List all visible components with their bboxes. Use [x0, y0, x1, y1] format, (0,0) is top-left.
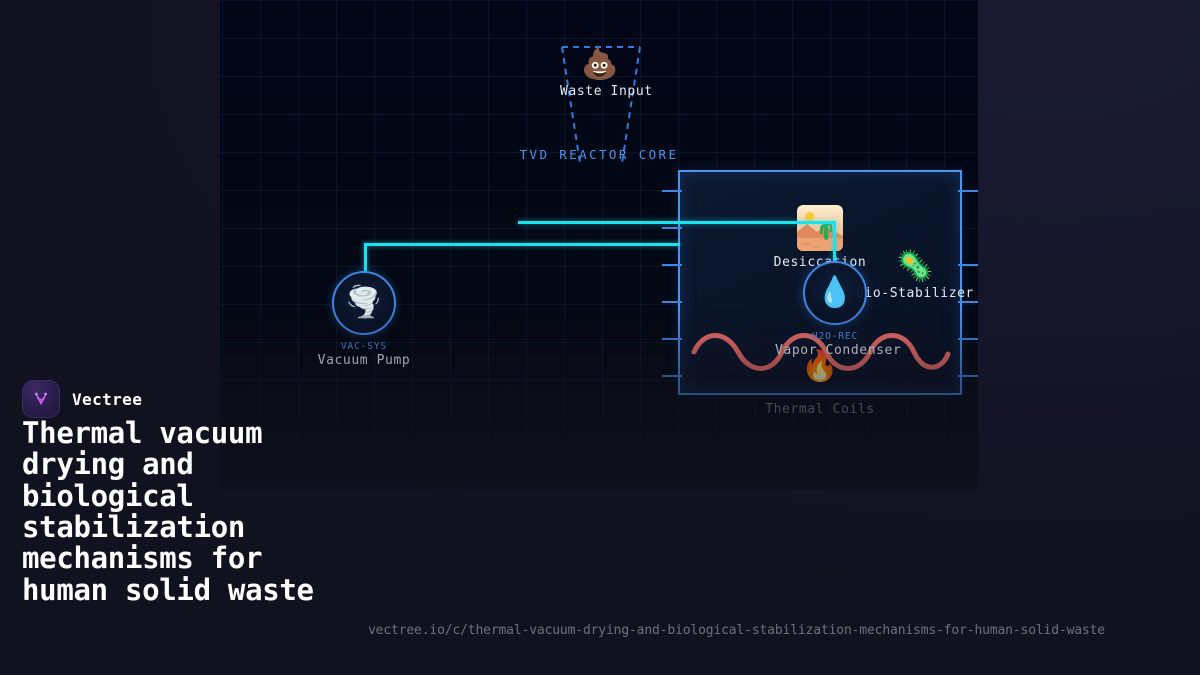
diagram-canvas: 💩 Waste Input TVD REACTOR CORE — [220, 0, 978, 490]
source-url: vectree.io/c/thermal-vacuum-drying-and-b… — [368, 623, 1105, 638]
brand-block: Vectree — [22, 380, 142, 418]
vectree-logo-icon — [22, 380, 60, 418]
canvas-bottom-fade — [220, 0, 978, 490]
page-title: Thermal vacuum drying and biological sta… — [22, 418, 352, 606]
brand-name: Vectree — [72, 390, 142, 409]
